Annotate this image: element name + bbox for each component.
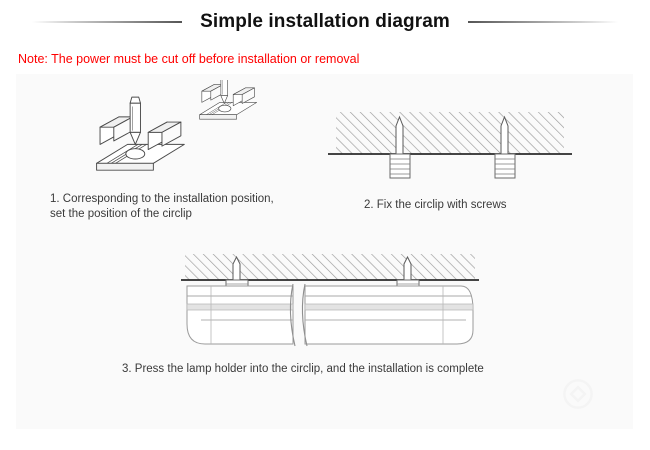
lamp-housing-left <box>187 286 293 344</box>
step-2-caption: 2. Fix the circlip with screws <box>364 198 594 213</box>
diagram-panel: 1. Corresponding to the installation pos… <box>16 74 633 429</box>
title-rule-right <box>468 21 618 23</box>
watermark-icon <box>561 377 595 411</box>
large-clip-assembly <box>97 97 185 170</box>
step-1-caption: 1. Corresponding to the installation pos… <box>50 192 330 222</box>
step-3-figure <box>171 252 491 352</box>
title-rule-left <box>32 21 182 23</box>
step-3-caption: 3. Press the lamp holder into the circli… <box>122 362 562 377</box>
step-1-figure <box>76 80 306 190</box>
page-title-bar: Simple installation diagram <box>0 6 650 38</box>
ceiling-hatch <box>185 254 475 280</box>
warning-note: Note: The power must be cut off before i… <box>18 52 359 66</box>
ceiling-hatch <box>336 112 564 154</box>
step-2-figure <box>316 108 576 193</box>
small-clip-assembly <box>200 80 257 119</box>
page-title: Simple installation diagram <box>200 11 450 33</box>
lamp-housing-right <box>305 286 473 344</box>
